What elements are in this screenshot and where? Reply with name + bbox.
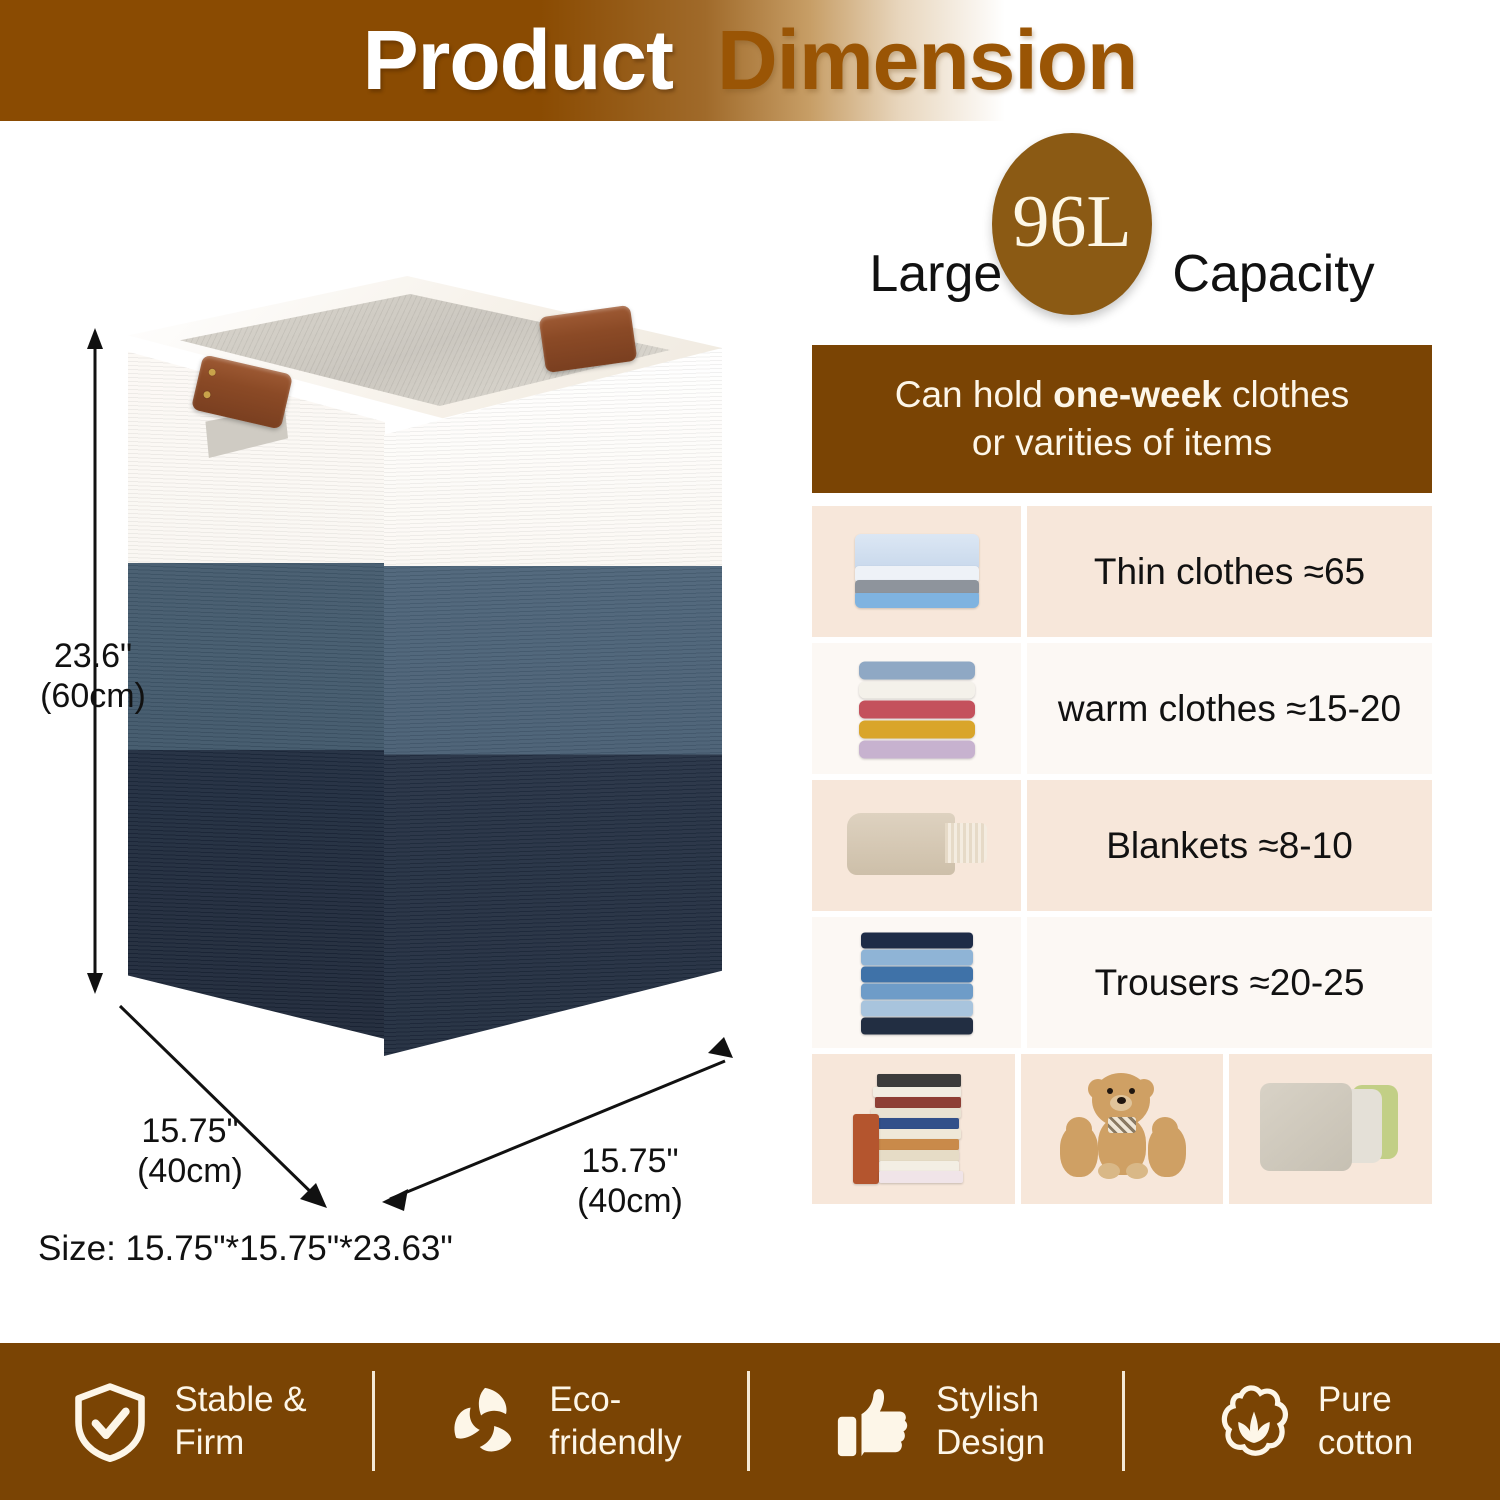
capacity-item-list: Thin clothes ≈65 warm clothes ≈15-20 [812, 506, 1432, 1204]
basket-illustration [110, 276, 740, 1106]
capacity-description-box: Can hold one-week clothes or varities of… [812, 345, 1432, 493]
feature-pure-cotton: Pure cotton [1125, 1343, 1500, 1500]
book-stack-art [853, 1074, 973, 1184]
pillow-art [1256, 1079, 1406, 1179]
list-item-label: Thin clothes ≈65 [1027, 506, 1432, 637]
dimension-height-label: 23.6" (60cm) [28, 636, 158, 716]
list-item: Trousers ≈20-25 [812, 917, 1432, 1048]
shield-check-icon [68, 1380, 152, 1464]
sweater-stack-art [859, 659, 975, 758]
feature-eco-friendly: Eco- fridendly [375, 1343, 750, 1500]
dimension-width-label: 15.75" (40cm) [540, 1141, 720, 1221]
capacity-prefix: Large [869, 244, 1002, 304]
product-dimension-panel: 23.6" (60cm) 15.75" (40cm) 15.75" (40cm)… [0, 121, 795, 1343]
feature-label: Stylish Design [936, 1379, 1045, 1464]
title-word-dimension: Dimension [717, 12, 1137, 109]
extra-items-strip [812, 1054, 1432, 1204]
capacity-headline: Large Capacity [812, 231, 1432, 317]
list-item-label: Trousers ≈20-25 [1027, 917, 1432, 1048]
feature-label: Stable & Firm [174, 1379, 306, 1464]
feature-bar: Stable & Firm Eco- fridendly [0, 1343, 1500, 1500]
handle-stud [203, 390, 211, 398]
thumbs-up-icon [830, 1380, 914, 1464]
page-title: Product Dimension [0, 0, 1500, 121]
shirt-stack-art [855, 536, 979, 608]
book-stack-icon [812, 1054, 1015, 1204]
list-item: Thin clothes ≈65 [812, 506, 1432, 637]
list-item: warm clothes ≈15-20 [812, 643, 1432, 774]
feature-label: Eco- fridendly [549, 1379, 681, 1464]
size-summary-text: Size: 15.75"*15.75"*23.63" [38, 1229, 453, 1269]
folded-blanket-icon [812, 780, 1021, 911]
list-item-label: warm clothes ≈15-20 [1027, 643, 1432, 774]
capacity-description-line2: or varities of items [972, 419, 1272, 467]
capacity-description-line1: Can hold one-week clothes [895, 371, 1350, 419]
folded-sweaters-icon [812, 643, 1021, 774]
handle-stud [208, 368, 216, 376]
folded-shirts-icon [812, 506, 1021, 637]
list-item: Blankets ≈8-10 [812, 780, 1432, 911]
dimension-depth-label: 15.75" (40cm) [100, 1111, 280, 1191]
jeans-stack-art [861, 931, 973, 1034]
basket-body [110, 276, 740, 1106]
pillow-stack-icon [1229, 1054, 1432, 1204]
cotton-boll-icon [1212, 1380, 1296, 1464]
teddy-bear-icon [1021, 1054, 1224, 1204]
teddy-bear-art [1052, 1073, 1192, 1185]
list-item-label: Blankets ≈8-10 [1027, 780, 1432, 911]
blanket-art [847, 809, 987, 883]
capacity-panel: 96L Large Capacity Can hold one-week clo… [795, 121, 1500, 1343]
feature-stylish-design: Stylish Design [750, 1343, 1125, 1500]
feature-stable-firm: Stable & Firm [0, 1343, 375, 1500]
feature-label: Pure cotton [1318, 1379, 1413, 1464]
folded-jeans-icon [812, 917, 1021, 1048]
capacity-suffix: Capacity [1172, 244, 1374, 304]
title-word-product: Product [363, 12, 673, 109]
header-banner: Product Dimension [0, 0, 1500, 121]
recycle-leaf-icon [443, 1380, 527, 1464]
